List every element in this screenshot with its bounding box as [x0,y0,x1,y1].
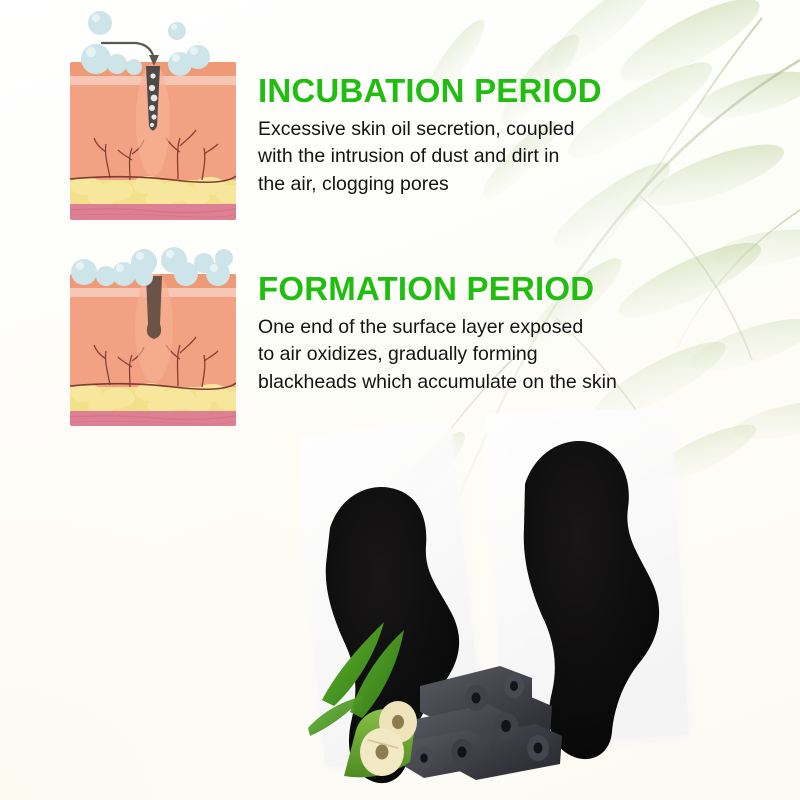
skin-diagram-formation [64,232,242,430]
heading-incubation-period: INCUBATION PERIOD [258,74,658,109]
body-formation: One end of the surface layer exposed to … [258,314,710,397]
body-line: blackheads which accumulate on the skin [258,369,710,397]
body-incubation: Excessive skin oil secretion, coupled wi… [258,116,658,199]
body-line: with the intrusion of dust and dirt in [258,143,658,171]
heading-formation-period: FORMATION PERIOD [258,272,710,307]
body-line: the air, clogging pores [258,171,658,199]
body-line: One end of the surface layer exposed [258,314,710,342]
bamboo-charcoal-photo [300,600,570,800]
skin-diagram-incubation [64,2,242,224]
body-line: Excessive skin oil secretion, coupled [258,116,658,144]
section-formation: FORMATION PERIOD One end of the surface … [258,272,710,397]
body-line: to air oxidizes, gradually forming [258,341,710,369]
section-incubation: INCUBATION PERIOD Excessive skin oil sec… [258,74,658,199]
